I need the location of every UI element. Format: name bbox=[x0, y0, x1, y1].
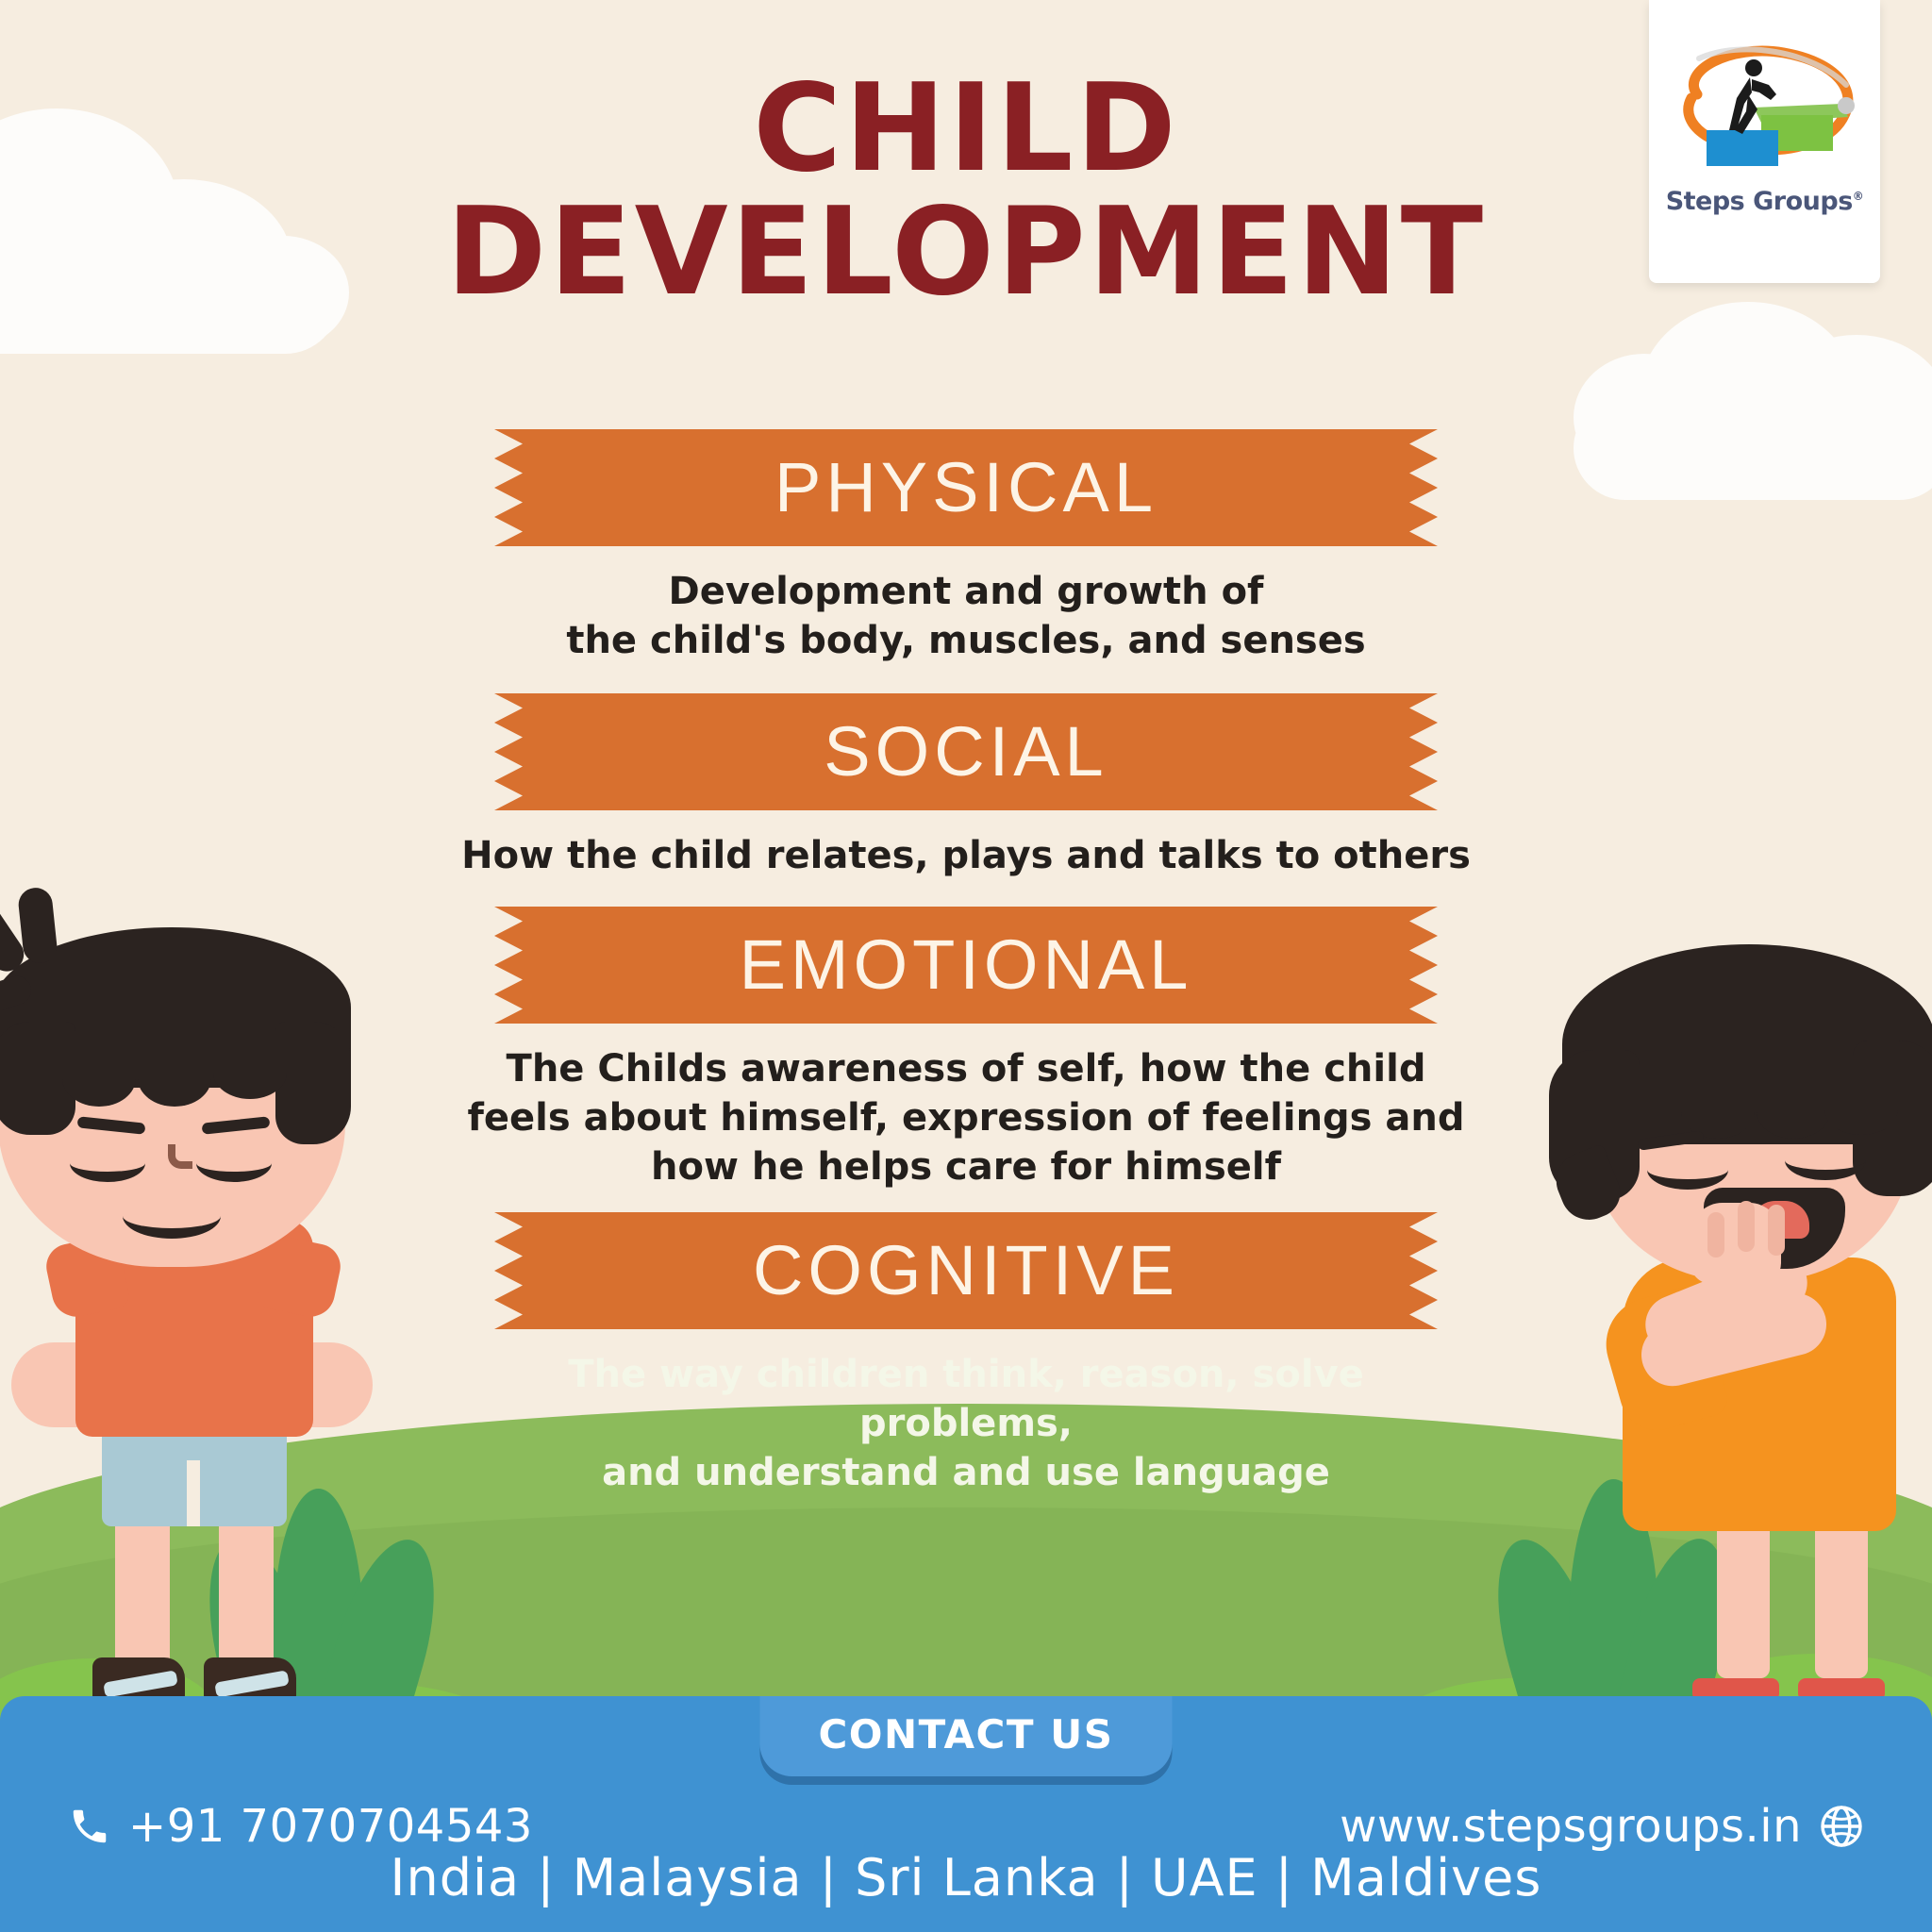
ribbon-label-physical: PHYSICAL bbox=[774, 453, 1158, 523]
title-line-2: DEVELOPMENT bbox=[0, 192, 1932, 315]
title-line-1: CHILD bbox=[0, 68, 1932, 192]
contact-us-label: CONTACT US bbox=[818, 1711, 1113, 1757]
desc-social: How the child relates, plays and talks t… bbox=[461, 831, 1471, 880]
phone-icon bbox=[68, 1805, 111, 1848]
desc-line: how he helps care for himself bbox=[461, 1142, 1471, 1191]
globe-icon bbox=[1819, 1804, 1864, 1849]
desc-line: the child's body, muscles, and senses bbox=[461, 616, 1471, 665]
website-contact[interactable]: www.stepsgroups.in bbox=[1340, 1800, 1864, 1853]
poster-canvas: Steps Groups® CHILD DEVELOPMENT PHYSICAL… bbox=[0, 0, 1932, 1932]
ribbon-label-cognitive: COGNITIVE bbox=[753, 1236, 1179, 1306]
section-physical: PHYSICAL Development and growth of the c… bbox=[0, 429, 1932, 665]
desc-line: feels about himself, expression of feeli… bbox=[461, 1093, 1471, 1142]
ribbon-physical: PHYSICAL bbox=[494, 429, 1438, 546]
desc-line: Development and growth of bbox=[461, 567, 1471, 616]
countries-line: India | Malaysia | Sri Lanka | UAE | Mal… bbox=[0, 1848, 1932, 1907]
desc-line: The way children think, reason, solve pr… bbox=[461, 1350, 1471, 1448]
desc-line: How the child relates, plays and talks t… bbox=[461, 831, 1471, 880]
desc-cognitive: The way children think, reason, solve pr… bbox=[461, 1350, 1471, 1497]
desc-line: and understand and use language bbox=[461, 1448, 1471, 1497]
section-social: SOCIAL How the child relates, plays and … bbox=[0, 693, 1932, 880]
ribbon-social: SOCIAL bbox=[494, 693, 1438, 810]
page-title: CHILD DEVELOPMENT bbox=[0, 68, 1932, 314]
ribbon-label-social: SOCIAL bbox=[824, 717, 1108, 787]
phone-contact[interactable]: +91 7070704543 bbox=[68, 1800, 533, 1853]
section-emotional: EMOTIONAL The Childs awareness of self, … bbox=[0, 907, 1932, 1191]
ribbon-emotional: EMOTIONAL bbox=[494, 907, 1438, 1024]
desc-line: The Childs awareness of self, how the ch… bbox=[461, 1044, 1471, 1093]
section-cognitive: COGNITIVE The way children think, reason… bbox=[0, 1212, 1932, 1497]
website-url: www.stepsgroups.in bbox=[1340, 1800, 1802, 1853]
phone-number: +91 7070704543 bbox=[128, 1800, 533, 1853]
contact-row: +91 7070704543 www.stepsgroups.in bbox=[0, 1800, 1932, 1853]
ribbon-cognitive: COGNITIVE bbox=[494, 1212, 1438, 1329]
sections-list: PHYSICAL Development and growth of the c… bbox=[0, 429, 1932, 1497]
desc-physical: Development and growth of the child's bo… bbox=[461, 567, 1471, 665]
desc-emotional: The Childs awareness of self, how the ch… bbox=[461, 1044, 1471, 1191]
contact-bar: CONTACT US +91 7070704543 www.stepsgroup… bbox=[0, 1696, 1932, 1932]
contact-us-tab[interactable]: CONTACT US bbox=[759, 1696, 1172, 1776]
ribbon-label-emotional: EMOTIONAL bbox=[740, 930, 1193, 1000]
